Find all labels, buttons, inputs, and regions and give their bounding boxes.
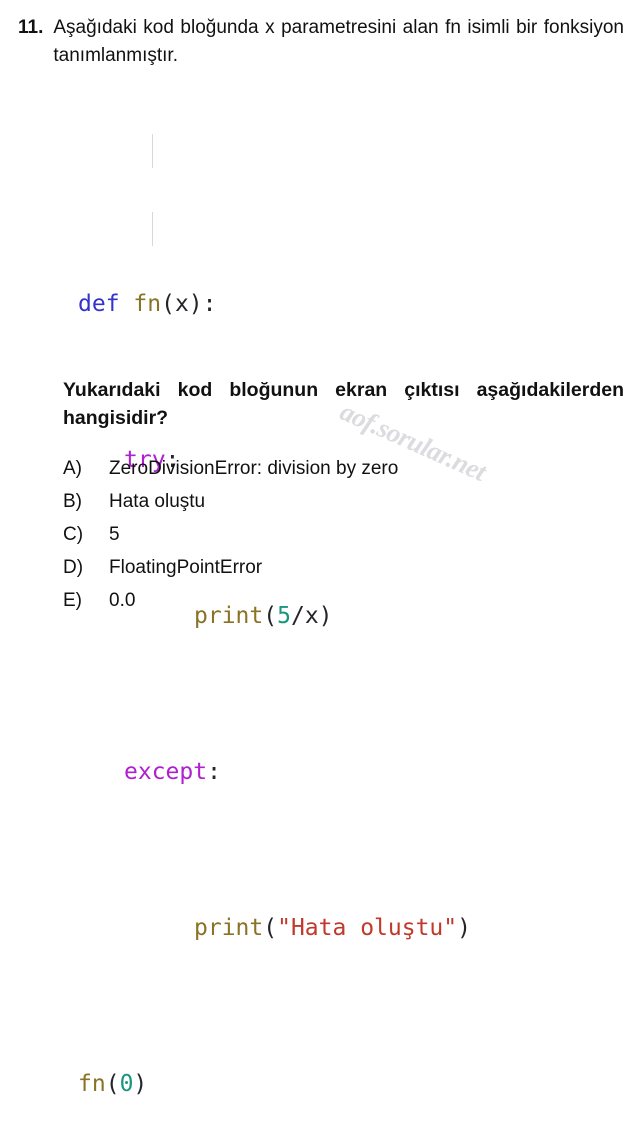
option-c-text: 5 (109, 524, 583, 546)
code-token-def: def (78, 291, 120, 317)
option-a[interactable]: A) ZeroDivisionError: division by zero (63, 458, 583, 491)
code-token-number-0: 0 (120, 1071, 134, 1097)
option-a-letter: A) (63, 458, 109, 480)
code-token-paren-open-3: ( (106, 1071, 120, 1097)
option-d-letter: D) (63, 557, 109, 579)
code-line-5: print("Hata oluştu") (78, 909, 471, 948)
option-a-text: ZeroDivisionError: division by zero (109, 458, 583, 480)
code-token-paren-close-2: ) (457, 915, 471, 941)
option-d-text: FloatingPointError (109, 557, 583, 579)
code-token-except-colon: : (207, 759, 221, 785)
code-token-params: (x): (161, 291, 216, 317)
code-token-print-2: print (194, 915, 263, 941)
code-token-paren-close-3: ) (133, 1071, 147, 1097)
code-line-6: fn(0) (78, 1065, 471, 1104)
option-e[interactable]: E) 0.0 (63, 590, 583, 623)
vertical-site-credit: aof.sorular.net (0, 556, 2, 638)
option-b-text: Hata oluştu (109, 491, 583, 513)
option-c-letter: C) (63, 524, 109, 546)
indent-guide-2 (152, 212, 153, 246)
option-e-text: 0.0 (109, 590, 583, 612)
indent-guide-1 (152, 134, 153, 168)
question-stem: 11. Aşağıdaki kod bloğunda x parametresi… (18, 14, 624, 70)
option-e-letter: E) (63, 590, 109, 612)
option-d[interactable]: D) FloatingPointError (63, 557, 583, 590)
code-token-fn-name: fn (120, 291, 162, 317)
code-token-string-hata: "Hata oluştu" (277, 915, 457, 941)
code-token-paren-open-2: ( (263, 915, 277, 941)
question-stem-text: Aşağıdaki kod bloğunda x parametresini a… (53, 14, 624, 70)
question-lead-in: Yukarıdaki kod bloğunun ekran çıktısı aş… (63, 376, 624, 432)
code-token-except: except (124, 759, 207, 785)
answer-options: A) ZeroDivisionError: division by zero B… (63, 458, 583, 623)
option-c[interactable]: C) 5 (63, 524, 583, 557)
code-line-1: def fn(x): (78, 285, 471, 324)
option-b[interactable]: B) Hata oluştu (63, 491, 583, 524)
question-number: 11. (18, 14, 53, 42)
option-b-letter: B) (63, 491, 109, 513)
code-line-4: except: (78, 753, 471, 792)
code-token-fn-call: fn (78, 1071, 106, 1097)
